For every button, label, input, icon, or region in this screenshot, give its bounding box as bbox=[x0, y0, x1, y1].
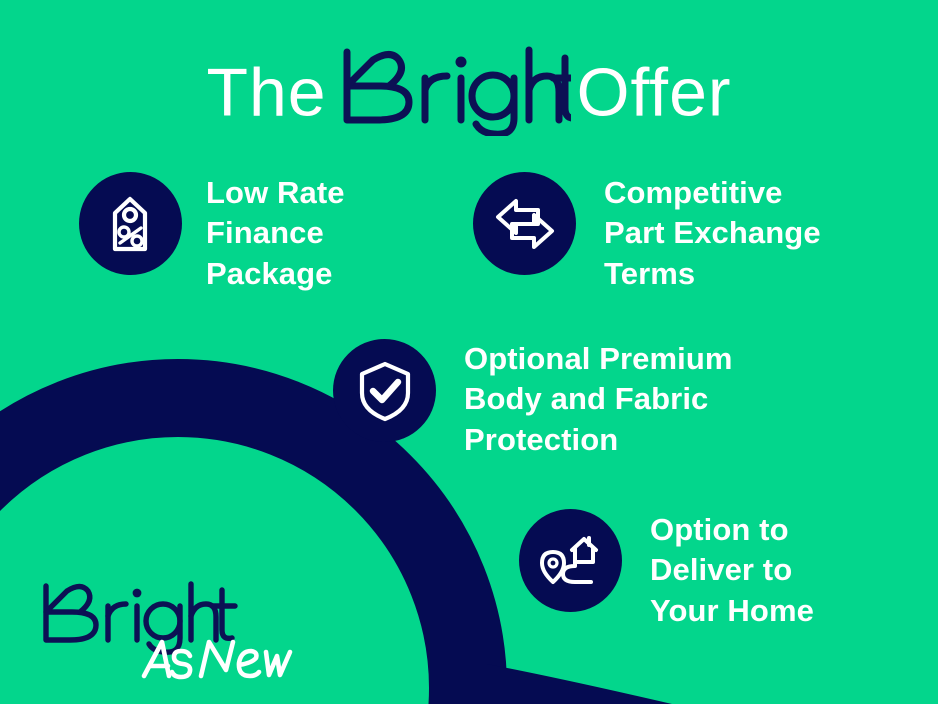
feature-label: Low Rate Finance Package bbox=[206, 172, 345, 294]
feature-line: Deliver to bbox=[650, 550, 814, 590]
feature-line: Competitive bbox=[604, 173, 821, 213]
feature-label: Competitive Part Exchange Terms bbox=[604, 172, 821, 294]
feature-home-delivery: Option to Deliver to Your Home bbox=[519, 509, 814, 631]
badge-circle bbox=[519, 509, 622, 612]
price-tag-percent-icon bbox=[103, 193, 159, 255]
logo-secondary-wordmark bbox=[144, 642, 290, 677]
page-title: The bbox=[0, 44, 938, 141]
feature-low-rate-finance: Low Rate Finance Package bbox=[79, 172, 345, 294]
delivery-route-home-icon bbox=[539, 532, 603, 590]
bright-as-new-logo bbox=[36, 578, 296, 682]
title-prefix: The bbox=[206, 55, 326, 131]
feature-body-fabric-protection: Optional Premium Body and Fabric Protect… bbox=[333, 339, 733, 460]
feature-line: Low Rate bbox=[206, 173, 345, 213]
feature-line: Body and Fabric bbox=[464, 379, 733, 419]
badge-circle bbox=[333, 339, 436, 442]
shield-check-icon bbox=[356, 359, 414, 423]
feature-line: Part Exchange bbox=[604, 213, 821, 253]
badge-circle bbox=[79, 172, 182, 275]
navy-arc-tip-shape bbox=[487, 664, 672, 704]
feature-line: Finance bbox=[206, 213, 345, 253]
feature-line: Protection bbox=[464, 420, 733, 460]
title-suffix: Offer bbox=[577, 55, 732, 131]
bright-offer-poster: The bbox=[0, 0, 938, 704]
feature-label: Optional Premium Body and Fabric Protect… bbox=[464, 339, 733, 460]
feature-part-exchange: Competitive Part Exchange Terms bbox=[473, 172, 821, 294]
feature-line: Option to bbox=[650, 510, 814, 550]
exchange-arrows-icon bbox=[494, 195, 556, 253]
feature-label: Option to Deliver to Your Home bbox=[650, 509, 814, 631]
feature-line: Terms bbox=[604, 254, 821, 294]
feature-line: Optional Premium bbox=[464, 339, 733, 379]
feature-line: Your Home bbox=[650, 591, 814, 631]
title-brand-wordmark bbox=[333, 44, 571, 141]
badge-circle bbox=[473, 172, 576, 275]
feature-line: Package bbox=[206, 254, 345, 294]
